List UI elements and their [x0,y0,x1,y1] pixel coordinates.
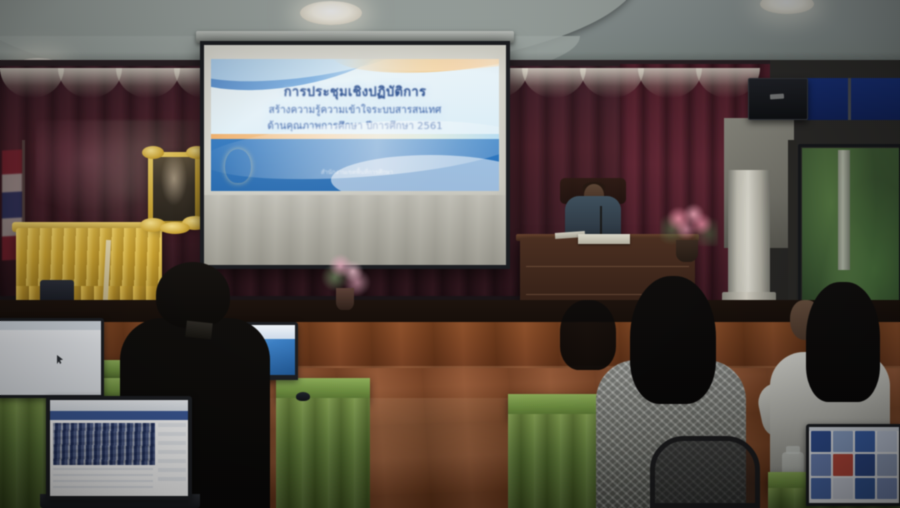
thumbnail-cell[interactable] [877,431,897,452]
thumbnail-cell[interactable] [877,454,897,475]
bottle-cap [786,446,800,454]
cursor-icon [57,355,63,364]
slide-subtitle-line1: สร้างความรู้ความเข้าใจระบบสารสนเทศ [211,103,499,118]
image-thumbnail-grid[interactable] [811,431,897,499]
thumbnail-cell[interactable] [855,431,875,452]
garland-decoration [142,146,164,159]
computer-mouse[interactable] [296,392,310,401]
thumbnail-cell[interactable] [877,478,897,499]
ceremonial-table [16,228,162,290]
browser-chrome [50,400,188,411]
site-navbar[interactable] [50,411,188,420]
chair-back [650,436,760,508]
slide-emblem-icon [225,149,251,183]
speaker-logo-icon [770,94,784,100]
garland-decoration [160,222,190,234]
flower-vase [676,240,698,262]
group-photo-image [53,423,155,465]
presentation-slide: การประชุมเชิงปฏิบัติการ สร้างความรู้ความ… [211,59,499,191]
ceiling-light-icon [300,1,362,25]
microphone-stand [600,206,602,234]
projection-screen: การประชุมเชิงปฏิบัติการ สร้างความรู้ความ… [200,41,510,269]
thumbnail-cell[interactable] [833,431,853,452]
conference-room-photo: การประชุมเชิงปฏิบัติการ สร้างความรู้ความ… [0,0,900,508]
laptop-center-left-screen[interactable] [50,400,188,496]
window-mullion [848,78,851,120]
attendee-midground-head [560,300,616,370]
flower-vase [336,288,354,310]
slide-title: การประชุมเชิงปฏิบัติการ [211,81,499,102]
wall-speaker [748,78,808,120]
documents-on-table [578,234,630,244]
slide-bottom-band [211,139,499,191]
attendee-white-blouse-hair [806,282,880,402]
attendee-front-left-head [156,262,230,328]
attendee-table-skirt [276,398,370,508]
thumbnail-cell[interactable] [833,478,853,499]
thumbnail-cell[interactable] [855,454,875,475]
thumbnail-cell[interactable] [811,454,831,475]
slide-footer-text: สำนักงานเขตพื้นที่การศึกษา [257,167,457,177]
projection-screen-surface: การประชุมเชิงปฏิบัติการ สร้างความรู้ความ… [204,45,506,265]
royal-portrait [148,152,200,226]
attendee-patterned-blouse-head [630,276,716,404]
portrait-image [153,157,195,221]
thumbnail-cell[interactable] [833,454,853,475]
laptop-far-left-screen[interactable] [0,321,101,395]
laptop-far-right-screen[interactable] [809,427,899,503]
window-title-bar [0,321,101,330]
sidebar-panel [158,423,186,481]
attendee-collar [185,321,213,340]
thumbnail-cell[interactable] [855,478,875,499]
text-block [53,468,153,492]
thumbnail-cell[interactable] [811,431,831,452]
thumbnail-cell[interactable] [811,478,831,499]
